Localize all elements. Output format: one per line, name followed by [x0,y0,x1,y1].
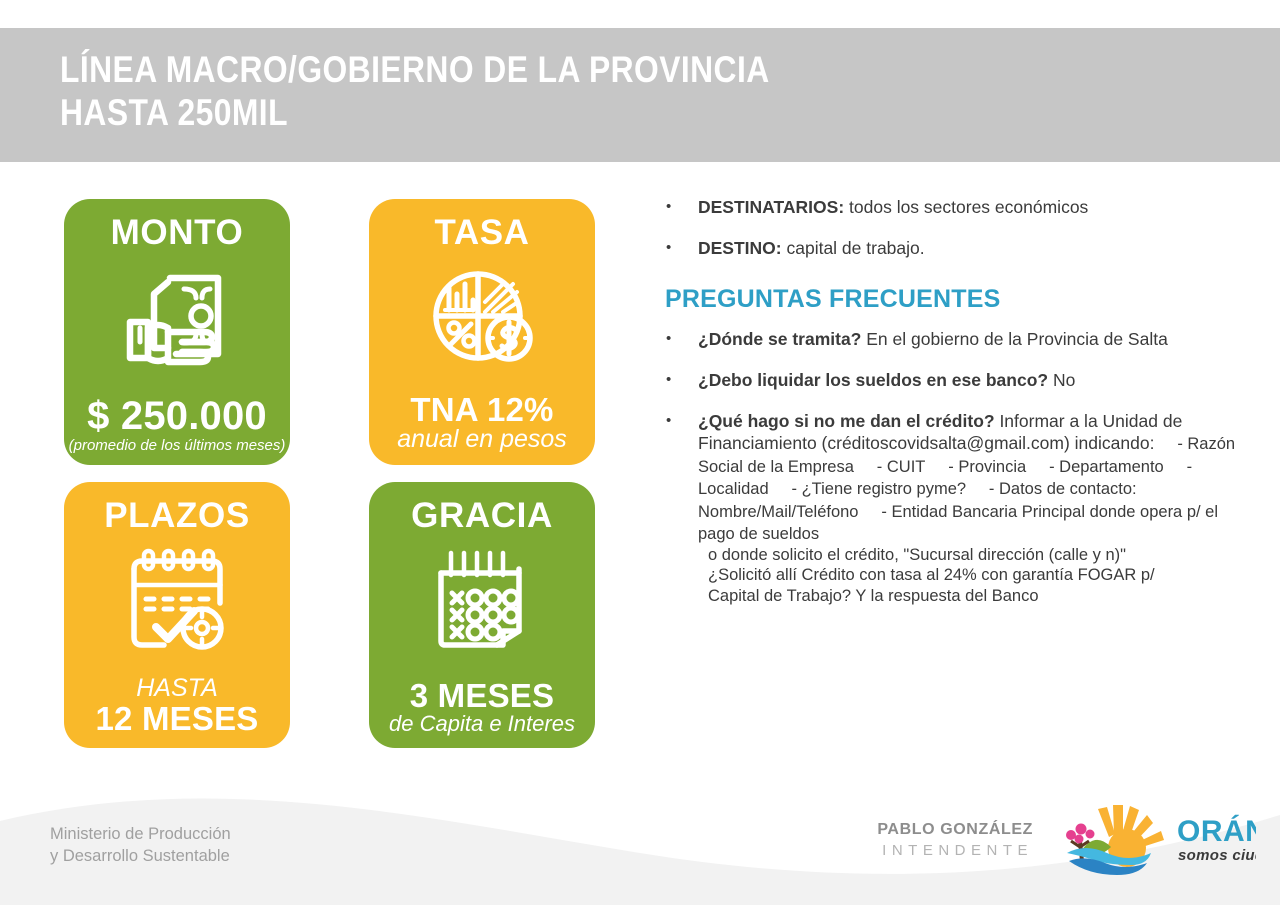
list-item: - Provincia [930,458,1026,476]
bullet-value: capital de trabajo. [782,238,925,258]
faq-answer: No [1048,370,1075,390]
bullet-label: DESTINATARIOS: [698,197,844,217]
faq-item-no-credito: • ¿Qué hago si no me dan el crédito? Inf… [660,410,1240,606]
card-plazos-footer: HASTA 12 MESES [64,676,290,736]
bullet-marker: • [660,410,698,432]
card-monto-value: $ 250.000 [64,396,290,437]
faq-answer: En el gobierno de la Provincia de Salta [861,329,1167,349]
bullet-marker: • [660,328,698,350]
list-item-cont: Capital de Trabajo? Y la respuesta del B… [698,586,1240,607]
details-column: • DESTINATARIOS: todos los sectores econ… [660,196,1240,625]
card-plazos-note: HASTA [64,676,290,702]
oran-wordmark: ORÁN [1177,814,1256,848]
list-item-cont: o donde solicito el crédito, "Sucursal d… [698,545,1240,566]
faq-text: ¿Dónde se tramita? En el gobierno de la … [698,328,1240,350]
list-item: - Departamento [1031,458,1164,476]
mayor-role: INTENDENTE [877,841,1033,860]
bullet-text: DESTINATARIOS: todos los sectores económ… [698,196,1240,218]
bullet-text: DESTINO: capital de trabajo. [698,237,1240,259]
card-plazos-value: 12 MESES [64,702,290,736]
bullet-destino: • DESTINO: capital de trabajo. [660,237,1240,259]
card-gracia-note: de Capita e Interes [369,713,595,736]
card-gracia-title: GRACIA [411,497,553,535]
card-tasa-note: anual en pesos [369,427,595,453]
card-plazos: PLAZOS [64,482,290,748]
page-title: LÍNEA MACRO/GOBIERNO DE LA PROVINCIA HAS… [60,48,770,134]
ministry-label: Ministerio de Producción y Desarrollo Su… [50,823,231,867]
faq-text: ¿Debo liquidar los sueldos en ese banco?… [698,369,1240,391]
list-item: - CUIT [859,458,926,476]
oran-logo-svg: ORÁN somos ciudad [1051,803,1256,877]
bullet-marker: • [660,369,698,391]
card-plazos-title: PLAZOS [104,497,250,535]
card-tasa-footer: TNA 12% anual en pesos [369,393,595,453]
card-tasa-title: TASA [434,214,529,252]
faq-item-sueldos: • ¿Debo liquidar los sueldos en ese banc… [660,369,1240,391]
bullet-marker: • [660,237,698,259]
bullet-marker: • [660,196,698,218]
card-gracia: GRACIA [369,482,595,748]
card-tasa-value: TNA 12% [369,393,595,427]
slide-root: LÍNEA MACRO/GOBIERNO DE LA PROVINCIA HAS… [0,0,1280,905]
card-monto-title: MONTO [111,214,244,252]
faq-question: ¿Dónde se tramita? [698,329,861,349]
calendar-check-clock-icon [97,537,257,665]
bullet-value: todos los sectores económicos [844,197,1088,217]
highlight-cards: MONTO $ 250.000 (promedio de los úl [64,199,610,761]
footer-branding: PABLO GONZÁLEZ INTENDENTE [877,803,1256,877]
card-gracia-footer: 3 MESES de Capita e Interes [369,679,595,736]
faq-text: ¿Qué hago si no me dan el crédito? Infor… [698,410,1240,606]
card-gracia-value: 3 MESES [369,679,595,713]
list-item: - ¿Tiene registro pyme? [774,480,967,498]
card-monto-note: (promedio de los últimos meses) [64,438,290,453]
pie-chart-percent-dollar-icon [402,254,562,382]
list-item-cont: ¿Solicitó allí Crédito con tasa al 24% c… [698,565,1240,586]
mayor-block: PABLO GONZÁLEZ INTENDENTE [877,820,1033,860]
calendar-xo-icon [402,537,562,665]
card-tasa: TASA [369,199,595,465]
card-monto-footer: $ 250.000 (promedio de los últimos meses… [64,396,290,453]
faq-heading: PREGUNTAS FRECUENTES [665,285,1240,314]
faq-question: ¿Debo liquidar los sueldos en ese banco? [698,370,1048,390]
oran-logo: ORÁN somos ciudad [1051,803,1256,877]
faq-sublist: - Razón Social de la Empresa - CUIT - Pr… [698,433,1240,606]
hand-holding-money-icon [97,254,257,382]
faq-item-donde: • ¿Dónde se tramita? En el gobierno de l… [660,328,1240,350]
bullet-destinatarios: • DESTINATARIOS: todos los sectores econ… [660,196,1240,218]
faq-question: ¿Qué hago si no me dan el crédito? [698,411,995,431]
mayor-name: PABLO GONZÁLEZ [877,820,1033,840]
oran-tagline: somos ciudad [1178,847,1256,864]
bullet-label: DESTINO: [698,238,782,258]
card-monto: MONTO $ 250.000 (promedio de los úl [64,199,290,465]
